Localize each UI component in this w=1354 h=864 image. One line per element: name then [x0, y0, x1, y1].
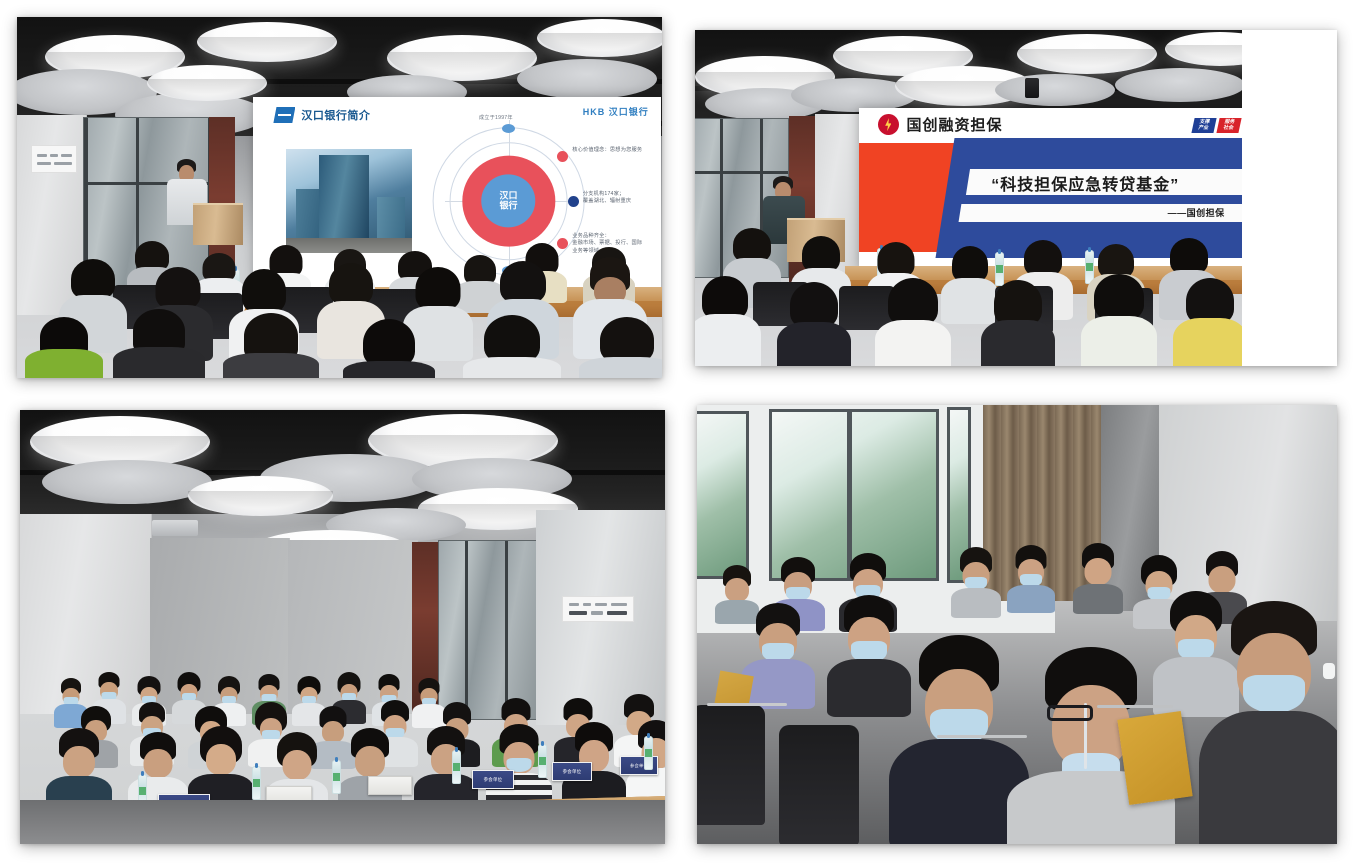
- pendant-lamp: [42, 460, 212, 504]
- water-bottle: [644, 736, 653, 770]
- photo-bottom-left-image: 国创担保 参会单位 参会单位 参会单位: [20, 410, 665, 844]
- chair-arm: [1097, 705, 1173, 708]
- chair: [779, 725, 859, 844]
- badge-support-industry: 支撑 产业: [1192, 118, 1217, 133]
- slide-main-title: “科技担保应急转贷基金”: [991, 171, 1240, 195]
- photo-collage: 汉口银行简介 HKB 汉口银行: [0, 0, 1354, 864]
- yellow-folder: [1117, 711, 1192, 805]
- slide-org-name: 国创融资担保: [906, 114, 1002, 135]
- slide-attribution: ——国创担保: [1168, 206, 1225, 219]
- slide-header: 汉口银行简介: [273, 107, 370, 123]
- pendant-lamp: [197, 22, 337, 62]
- podium: [193, 203, 243, 245]
- seminar-room-scene: [697, 405, 1337, 844]
- photo-top-left-image: 汉口银行简介 HKB 汉口银行: [17, 17, 662, 378]
- conference-room-scene: 国创融资担保 支撑 产业 服务 社会 “科技担保应急转贷基金” ——国创担保: [695, 30, 1242, 366]
- table-placard: [368, 776, 412, 795]
- photo-top-right-image: 国创融资担保 支撑 产业 服务 社会 “科技担保应急转贷基金” ——国创担保: [695, 30, 1242, 366]
- audience-member: [951, 547, 1001, 615]
- pendant-lamp: [537, 19, 662, 57]
- wall-sign: [562, 596, 634, 622]
- audience-member: [1073, 543, 1123, 613]
- diagram-dot: [502, 124, 515, 133]
- conference-room-scene: 汉口银行简介 HKB 汉口银行: [17, 17, 662, 378]
- glass-partition: [438, 540, 540, 720]
- audience-member: [981, 280, 1055, 366]
- photo-panel-bottom-right[interactable]: [697, 405, 1337, 844]
- ceiling-projector: [152, 520, 198, 536]
- audience-member-front: [1199, 601, 1337, 844]
- wall-sign: [31, 145, 77, 173]
- audience-member: [1173, 278, 1242, 366]
- pillar: [1159, 405, 1337, 621]
- diagram-dot: [557, 151, 568, 162]
- audience-member: [1081, 274, 1157, 366]
- audience-member: [741, 603, 815, 707]
- audience-member: [875, 278, 951, 366]
- chair-arm: [707, 703, 787, 706]
- eyeglasses: [1047, 705, 1093, 721]
- table-placard: 参会单位: [472, 770, 514, 789]
- pendant-lamp: [995, 74, 1115, 106]
- water-bottle: [452, 750, 461, 784]
- diagram-dot: [568, 196, 579, 207]
- water-bottle: [332, 760, 341, 794]
- slide-badges: 支撑 产业 服务 社会: [1193, 118, 1240, 133]
- pendant-lamp: [1115, 68, 1242, 102]
- earbud-icon: [1323, 663, 1335, 679]
- photo-panel-top-right[interactable]: 国创融资担保 支撑 产业 服务 社会 “科技担保应急转贷基金” ——国创担保: [695, 30, 1337, 366]
- core-label-line2: 银行: [500, 201, 518, 210]
- audience-member: [223, 313, 319, 378]
- photo-panel-bottom-left[interactable]: 国创担保 参会单位 参会单位 参会单位: [20, 410, 665, 844]
- slide-header-title: 汉口银行简介: [301, 107, 370, 123]
- audience-member: [1007, 545, 1055, 611]
- audience-member: [777, 282, 851, 366]
- audience-member: [695, 276, 761, 366]
- photo-bottom-right-image: [697, 405, 1337, 844]
- wall-speaker: [1025, 78, 1039, 98]
- guochuang-logo-icon: [878, 114, 899, 135]
- badge-serve-society: 服务 社会: [1217, 118, 1242, 133]
- audience-member: [579, 317, 662, 378]
- pendant-lamp: [188, 476, 333, 516]
- window-pane: [697, 411, 749, 579]
- bank-building-photo: [286, 149, 412, 253]
- chair: [697, 705, 765, 825]
- pendant-lamp: [147, 65, 267, 101]
- hkb-diamond-icon: [273, 107, 295, 123]
- slide-org-header: 国创融资担保: [878, 114, 1002, 135]
- diagram-note-top: 成立于1997年: [479, 115, 513, 123]
- chair-arm: [937, 735, 1027, 738]
- conference-room-scene: 国创担保 参会单位 参会单位 参会单位: [20, 410, 665, 844]
- photo-panel-top-left[interactable]: 汉口银行简介 HKB 汉口银行: [17, 17, 662, 378]
- carpet: [20, 800, 665, 844]
- audience-member: [343, 319, 435, 378]
- diagram-core-label: 汉口 银行: [482, 175, 536, 228]
- audience-member: [463, 315, 561, 378]
- pendant-lamp: [1017, 34, 1157, 74]
- pendant-lamp: [517, 59, 657, 99]
- water-bottle: [538, 744, 547, 778]
- water-bottle: [252, 766, 261, 800]
- table-placard: 参会单位: [552, 762, 592, 781]
- audience-member: [113, 309, 205, 378]
- diagram-bullet-1: 核心价值理念：思想为您服务: [572, 147, 642, 155]
- diagram-bullet-2: 分支机构174家； 覆盖湖北、辐射重庆: [583, 191, 632, 206]
- audience-member: [25, 317, 103, 378]
- diagram-core: 汉口 银行: [462, 156, 555, 247]
